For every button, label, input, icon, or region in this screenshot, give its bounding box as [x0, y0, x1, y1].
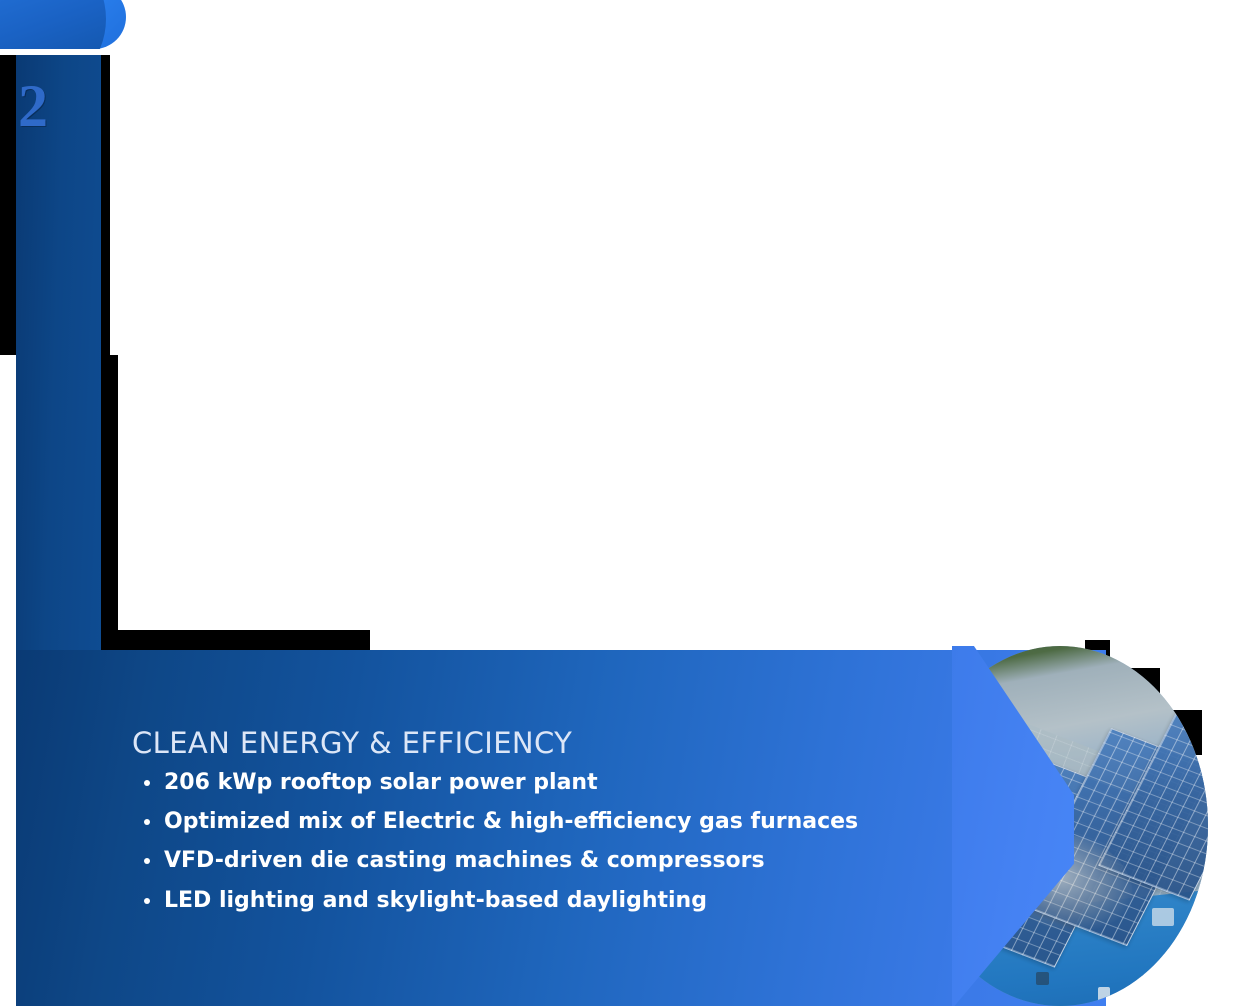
list-item: 206 kWp rooftop solar power plant — [132, 771, 932, 795]
top-dome-decoration — [0, 0, 132, 49]
bullet-dot-icon — [144, 819, 150, 825]
list-item-label: VFD-driven die casting machines & compre… — [164, 848, 765, 873]
list-item: LED lighting and skylight-based daylight… — [132, 889, 932, 913]
slide-root: 2 CLEAN ENERGY & EFFICIENCY 206 kWp roof… — [0, 0, 1251, 1006]
content-text-block: CLEAN ENERGY & EFFICIENCY 206 kWp roofto… — [132, 726, 932, 928]
shadow-bar-right — [100, 55, 110, 355]
photo-roof-fixture — [1134, 983, 1150, 1001]
photo-roof-fixture — [1098, 987, 1110, 1003]
list-item-label: Optimized mix of Electric & high-efficie… — [164, 809, 858, 834]
list-item-label: LED lighting and skylight-based daylight… — [164, 888, 707, 913]
bullet-dot-icon — [144, 898, 150, 904]
shadow-horizontal — [100, 630, 370, 652]
shadow-left-top — [0, 55, 17, 355]
list-item-label: 206 kWp rooftop solar power plant — [164, 770, 598, 795]
photo-roof-fixture — [1152, 908, 1174, 926]
shadow-column-right — [100, 355, 118, 650]
bullet-dot-icon — [144, 858, 150, 864]
bullet-dot-icon — [144, 780, 150, 786]
section-title: CLEAN ENERGY & EFFICIENCY — [132, 726, 932, 760]
bullet-list: 206 kWp rooftop solar power plant Optimi… — [132, 771, 932, 913]
list-item: VFD-driven die casting machines & compre… — [132, 849, 932, 873]
list-item: Optimized mix of Electric & high-efficie… — [132, 810, 932, 834]
photo-roof-fixture — [1036, 972, 1049, 985]
dome-large-icon — [0, 0, 106, 49]
photo-container — [952, 646, 1251, 1006]
slide-number: 2 — [18, 76, 48, 136]
